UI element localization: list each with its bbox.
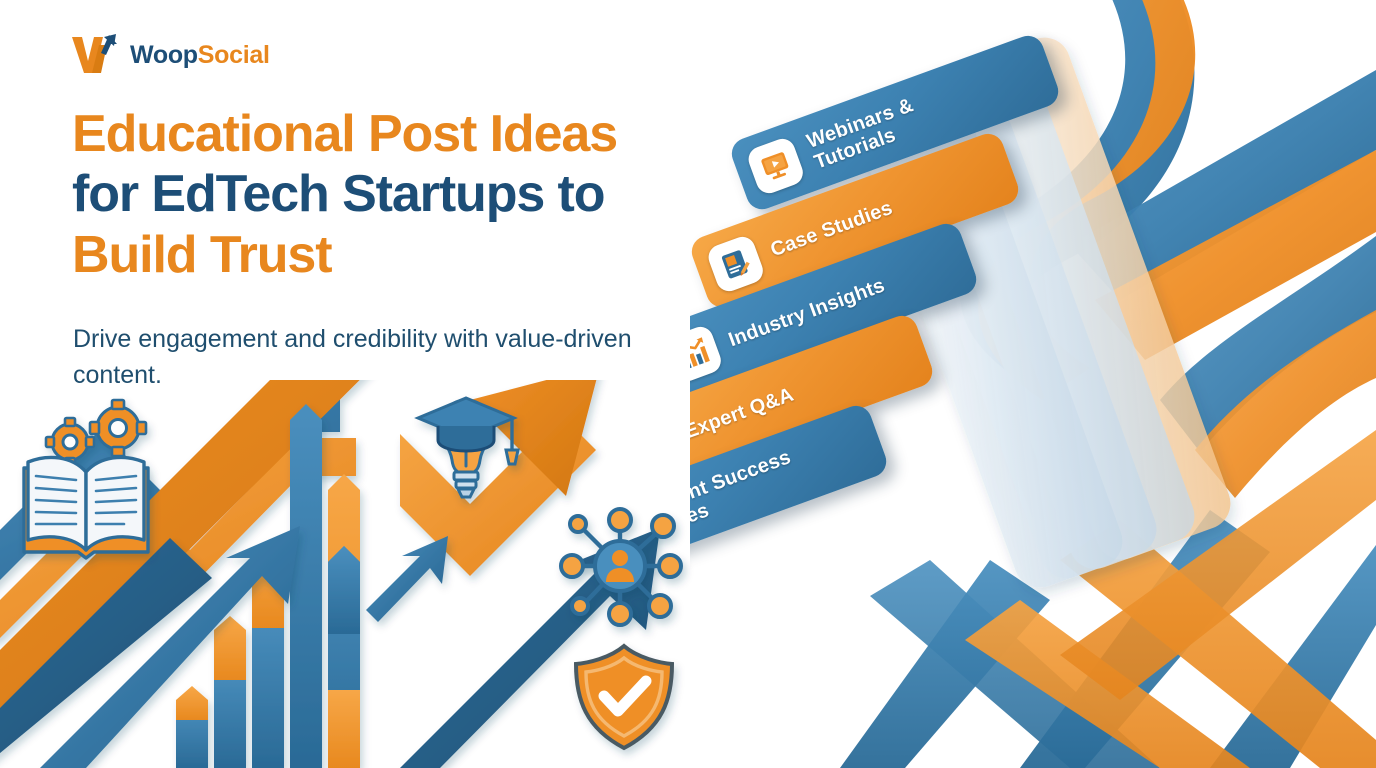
brand-name-part2: Social xyxy=(198,41,270,69)
page-subtitle: Drive engagement and credibility with va… xyxy=(73,322,653,393)
headline-line-1: Educational Post Ideas xyxy=(72,104,832,164)
network-people-icon xyxy=(561,509,681,625)
growth-illustration-svg xyxy=(0,380,720,768)
page-title: Educational Post Ideas for EdTech Startu… xyxy=(72,104,832,285)
infographic-canvas: Webinars &Tutorials Case Studies xyxy=(0,0,1376,768)
w-arrow-logo-mark xyxy=(70,33,118,77)
open-book-icon xyxy=(24,457,148,558)
brand-name-part1: Woop xyxy=(130,41,198,69)
left-illustration xyxy=(0,380,720,768)
shield-check-icon xyxy=(576,646,672,748)
headline-line-2: for EdTech Startups to xyxy=(72,164,832,224)
headline-line-3: Build Trust xyxy=(72,225,832,285)
brand-logo[interactable]: WoopSocial xyxy=(70,33,270,77)
brand-name: WoopSocial xyxy=(130,41,270,70)
bar-chart-arrow-icon xyxy=(690,323,724,385)
book-gears-icon xyxy=(24,400,148,558)
